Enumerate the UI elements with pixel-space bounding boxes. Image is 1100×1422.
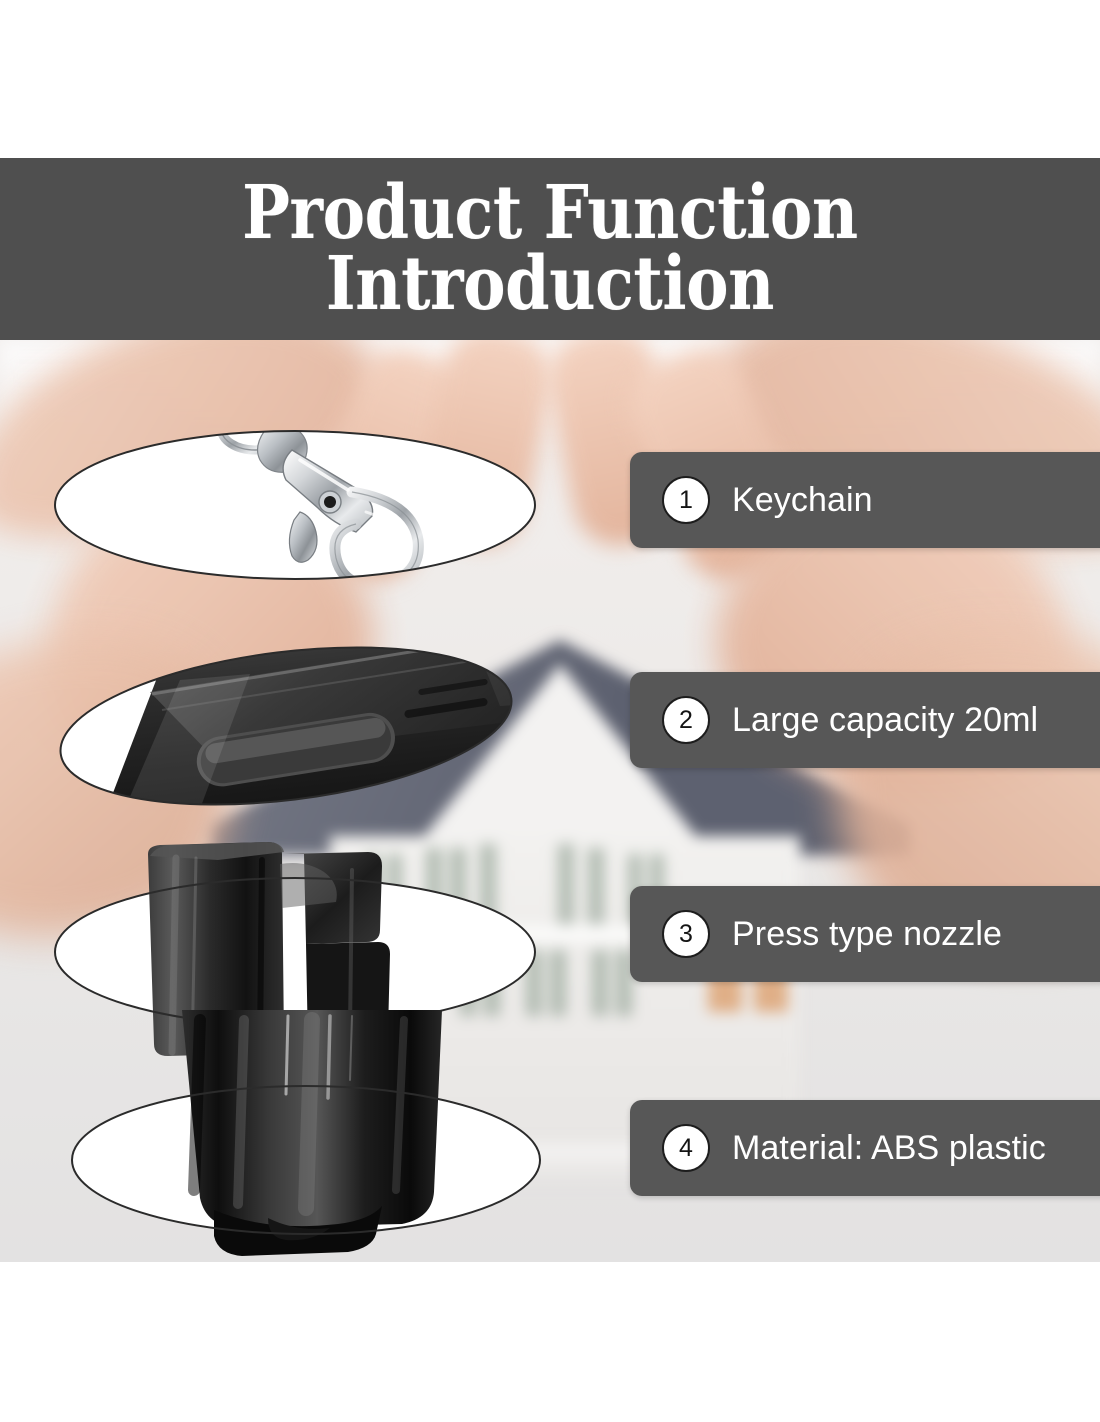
feature-label-1: Keychain — [732, 481, 873, 520]
callout-oval-capacity — [0, 640, 600, 840]
feature-chip-4[interactable]: 4 Material: ABS plastic — [630, 1100, 1100, 1196]
page-title: Product Function Introduction — [227, 178, 874, 320]
feature-number-badge-1: 1 — [662, 476, 710, 524]
callout-oval-material — [0, 1040, 600, 1262]
feature-label-2: Large capacity 20ml — [732, 701, 1038, 740]
product-feature-stage: 1 Keychain 2 Large capacity 20ml 3 Press… — [0, 340, 1100, 1262]
callout-oval-keychain — [0, 420, 600, 620]
feature-number-badge-4: 4 — [662, 1124, 710, 1172]
feature-number-badge-2: 2 — [662, 696, 710, 744]
feature-label-3: Press type nozzle — [732, 915, 1002, 954]
feature-chip-2[interactable]: 2 Large capacity 20ml — [630, 672, 1100, 768]
header-banner: Product Function Introduction — [0, 158, 1100, 340]
bottle-body-photo-content — [95, 610, 600, 870]
feature-number-badge-3: 3 — [662, 910, 710, 958]
feature-chip-1[interactable]: 1 Keychain — [630, 452, 1100, 548]
feature-chip-3[interactable]: 3 Press type nozzle — [630, 886, 1100, 982]
bottle-base-photo-content — [182, 1010, 442, 1256]
feature-label-4: Material: ABS plastic — [732, 1129, 1046, 1168]
